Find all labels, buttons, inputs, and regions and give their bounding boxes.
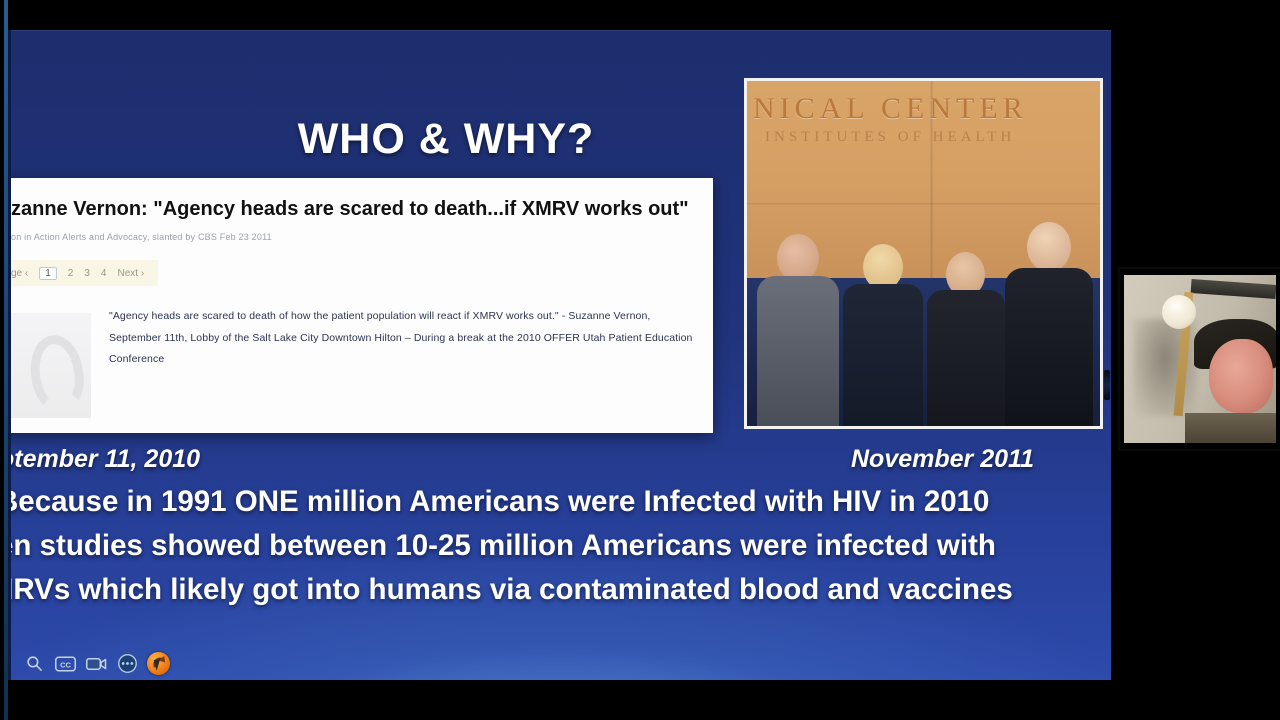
slide-body-line-2: en studies showed between 10-25 million … (8, 529, 1111, 563)
slide-body-line-3: /IRVs which likely got into humans via c… (8, 573, 1111, 607)
caption-left-date: otember 11, 2010 (8, 445, 200, 474)
pagination-page-2[interactable]: 2 (68, 268, 74, 279)
pagination-next[interactable]: Next › (117, 268, 144, 279)
pagination-page-4[interactable]: 4 (101, 268, 107, 279)
photo-person-3 (927, 244, 1005, 426)
news-article-clipping[interactable]: zanne Vernon: "Agency heads are scared t… (8, 178, 713, 433)
photo-person-4 (1005, 218, 1093, 426)
photo-person-1 (757, 226, 839, 426)
pagination-page-1[interactable]: 1 (39, 267, 57, 280)
presentation-slide[interactable]: WHO & WHY? NICAL CENTER INSTITUTES OF HE… (8, 30, 1111, 680)
svg-text:CC: CC (60, 660, 71, 669)
closed-captions-icon[interactable]: CC (54, 652, 77, 675)
caption-right-date: November 2011 (851, 445, 1034, 474)
photo-person-2 (843, 238, 923, 426)
nih-group-photo: NICAL CENTER INSTITUTES OF HEALTH (744, 78, 1103, 429)
more-options-icon[interactable] (116, 652, 139, 675)
webcam-mic-windscreen (1162, 295, 1196, 329)
person-1-head (777, 234, 819, 282)
person-1-body (757, 276, 839, 426)
person-2-body (843, 284, 923, 426)
search-icon[interactable] (23, 652, 46, 675)
webcam-person-face (1209, 339, 1273, 413)
photo-sign-line-2: INSTITUTES OF HEALTH (765, 129, 1095, 146)
article-headline: zanne Vernon: "Agency heads are scared t… (11, 198, 699, 221)
slide-body-line-1: Because in 1991 ONE million Americans we… (8, 485, 1111, 519)
share-arrow-icon[interactable] (147, 652, 170, 675)
screen-recording-viewport: WHO & WHY? NICAL CENTER INSTITUTES OF HE… (0, 0, 1280, 720)
webcam-frame (1124, 275, 1276, 443)
person-3-body (927, 290, 1005, 426)
pagination-prev[interactable]: ge ‹ (11, 268, 28, 279)
pagination-page-3[interactable]: 3 (84, 268, 90, 279)
webcam-person-body (1185, 413, 1276, 443)
article-quote-text: "Agency heads are scared to death of how… (109, 306, 701, 371)
article-pagination[interactable]: ge ‹ 1 2 3 4 Next › (8, 260, 158, 286)
person-4-head (1027, 222, 1071, 272)
person-4-body (1005, 268, 1093, 426)
player-control-bar[interactable]: CC (23, 652, 170, 675)
article-byline: on in Action Alerts and Advocacy, slante… (11, 232, 699, 242)
video-camera-icon[interactable] (85, 652, 108, 675)
webcam-video-feed[interactable] (1118, 267, 1280, 451)
article-thumbnail-placeholder (8, 313, 91, 418)
photo-sign-line-1: NICAL CENTER (753, 92, 1093, 126)
slide-resize-handle[interactable] (1104, 370, 1110, 400)
